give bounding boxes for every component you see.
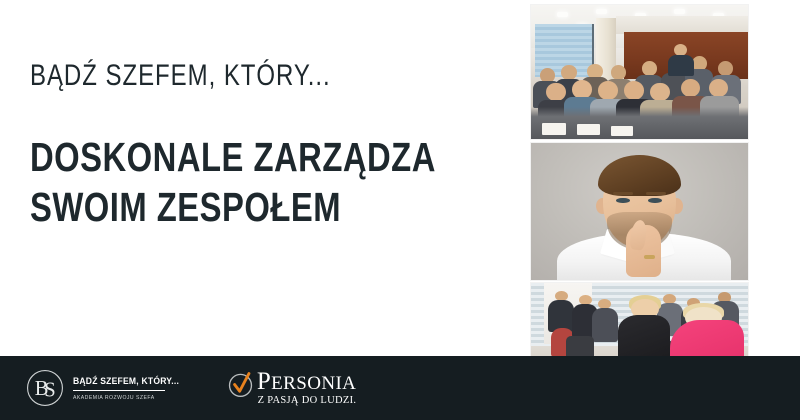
bs-monogram-icon: B S [26, 369, 64, 407]
headline-block: BĄDŹ SZEFEM, KTÓRY... DOSKONALE ZARZĄDZA… [30, 60, 500, 232]
footer-bar: B S BĄDŹ SZEFEM, KTÓRY... AKADEMIA ROZWO… [0, 356, 800, 420]
svg-text:S: S [44, 380, 55, 402]
headline-line-2: SWOIM ZESPOŁEM [30, 182, 406, 232]
personia-initial: P [257, 368, 271, 395]
eyebrow-text: BĄDŹ SZEFEM, KTÓRY... [30, 60, 406, 92]
badz-szefem-logo[interactable]: B S BĄDŹ SZEFEM, KTÓRY... AKADEMIA ROZWO… [26, 369, 191, 407]
badz-szefem-subtitle: AKADEMIA ROZWOJU SZEFA [73, 395, 181, 401]
portrait-photo [531, 143, 748, 280]
personia-name-rest: ERSONIA [271, 373, 356, 394]
promotional-banner: BĄDŹ SZEFEM, KTÓRY... DOSKONALE ZARZĄDZA… [0, 0, 800, 420]
headline-text: DOSKONALE ZARZĄDZA SWOIM ZESPOŁEM [30, 132, 406, 232]
conference-audience-photo [531, 5, 748, 139]
badz-szefem-title: BĄDŹ SZEFEM, KTÓRY... [73, 376, 179, 387]
headline-line-1: DOSKONALE ZARZĄDZA [30, 132, 406, 182]
logo-divider [73, 390, 165, 391]
personia-logo[interactable]: PERSONIA Z PASJĄ DO LUDZI. [227, 370, 356, 406]
check-circle-icon [227, 371, 254, 398]
personia-wordmark: PERSONIA [257, 370, 356, 394]
personia-tagline: Z PASJĄ DO LUDZI. [258, 395, 357, 406]
